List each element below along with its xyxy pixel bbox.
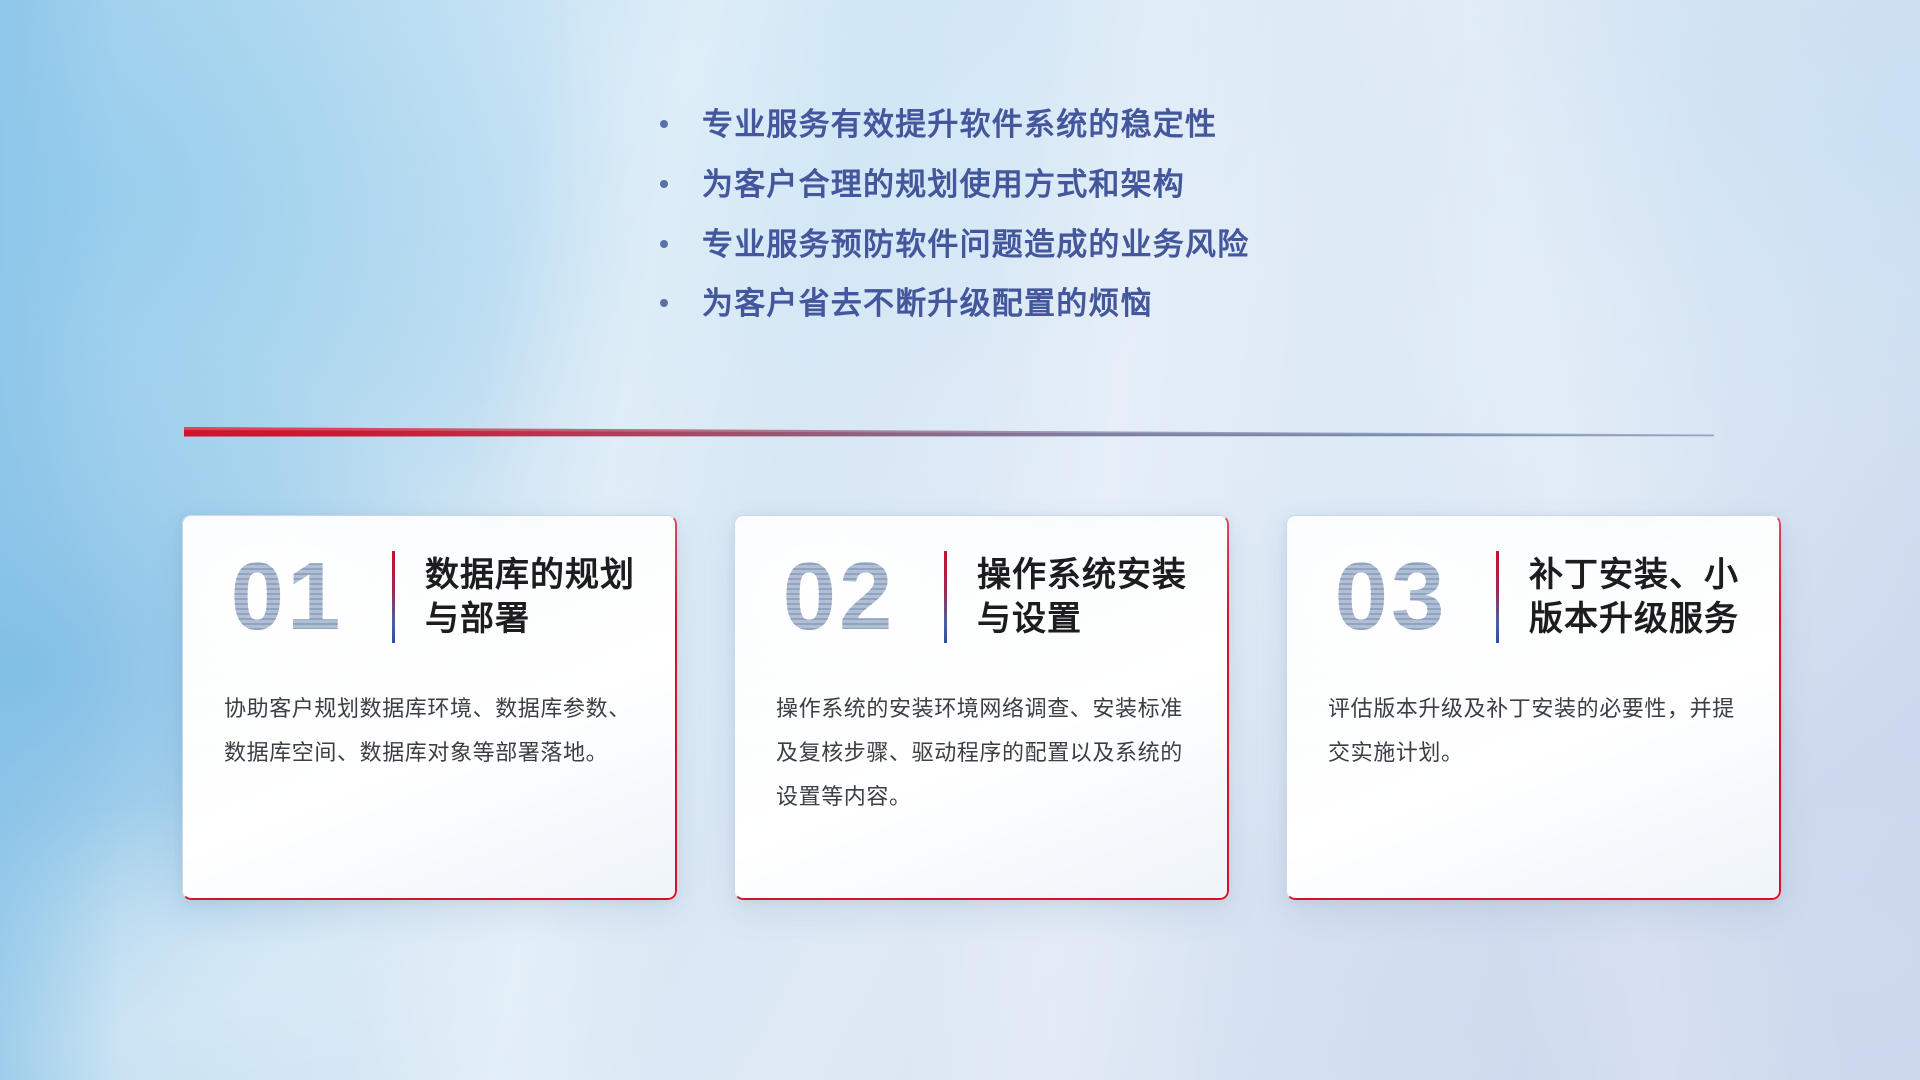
bullet-dot-icon bbox=[660, 180, 668, 188]
section-divider bbox=[184, 425, 1714, 441]
card-body-text: 评估版本升级及补丁安装的必要性，并提交实施计划。 bbox=[1328, 687, 1747, 775]
card-body-text: 协助客户规划数据库环境、数据库参数、数据库空间、数据库对象等部署落地。 bbox=[224, 687, 643, 775]
card-title-line-2: 与部署 bbox=[425, 597, 663, 641]
bullet-item-label: 专业服务有效提升软件系统的稳定性 bbox=[702, 106, 1217, 145]
card-divider-rule bbox=[1496, 551, 1499, 643]
card-number-watermark: 01 bbox=[182, 549, 392, 645]
bullet-item-label: 为客户省去不断升级配置的烦恼 bbox=[702, 285, 1153, 324]
card-title-line-2: 与设置 bbox=[977, 597, 1215, 641]
card-title: 数据库的规划 与部署 bbox=[425, 553, 677, 641]
card-title: 补丁安装、小 版本升级服务 bbox=[1529, 553, 1781, 641]
background-left-vignette bbox=[0, 0, 120, 1080]
bullet-list: 专业服务有效提升软件系统的稳定性 为客户合理的规划使用方式和架构 专业服务预防软… bbox=[660, 106, 1420, 345]
service-card[interactable]: 03 补丁安装、小 版本升级服务 评估版本升级及补丁安装的必要性，并提交实施计划… bbox=[1286, 515, 1781, 900]
card-header: 01 数据库的规划 与部署 bbox=[182, 531, 677, 663]
slide-canvas: 专业服务有效提升软件系统的稳定性 为客户合理的规划使用方式和架构 专业服务预防软… bbox=[0, 0, 1920, 1080]
card-header: 02 操作系统安装 与设置 bbox=[734, 531, 1229, 663]
service-card[interactable]: 02 操作系统安装 与设置 操作系统的安装环境网络调查、安装标准及复核步骤、驱动… bbox=[734, 515, 1229, 900]
bullet-dot-icon bbox=[660, 240, 668, 248]
card-divider-rule bbox=[392, 551, 395, 643]
bullet-item-label: 专业服务预防软件问题造成的业务风险 bbox=[702, 226, 1249, 265]
list-item: 为客户合理的规划使用方式和架构 bbox=[660, 166, 1420, 205]
service-card[interactable]: 01 数据库的规划 与部署 协助客户规划数据库环境、数据库参数、数据库空间、数据… bbox=[182, 515, 677, 900]
list-item: 专业服务有效提升软件系统的稳定性 bbox=[660, 106, 1420, 145]
card-title-line-2: 版本升级服务 bbox=[1529, 597, 1767, 641]
card-title-line-1: 操作系统安装 bbox=[977, 553, 1215, 597]
card-title-line-1: 补丁安装、小 bbox=[1529, 553, 1767, 597]
card-row: 01 数据库的规划 与部署 协助客户规划数据库环境、数据库参数、数据库空间、数据… bbox=[182, 515, 1782, 900]
card-title-line-1: 数据库的规划 bbox=[425, 553, 663, 597]
card-number-watermark: 03 bbox=[1286, 549, 1496, 645]
bullet-dot-icon bbox=[660, 120, 668, 128]
bullet-dot-icon bbox=[660, 299, 668, 307]
bullet-item-label: 为客户合理的规划使用方式和架构 bbox=[702, 166, 1185, 205]
divider-wedge-icon bbox=[184, 425, 1714, 441]
list-item: 专业服务预防软件问题造成的业务风险 bbox=[660, 226, 1420, 265]
list-item: 为客户省去不断升级配置的烦恼 bbox=[660, 285, 1420, 324]
card-body-text: 操作系统的安装环境网络调查、安装标准及复核步骤、驱动程序的配置以及系统的设置等内… bbox=[776, 687, 1195, 819]
card-title: 操作系统安装 与设置 bbox=[977, 553, 1229, 641]
card-divider-rule bbox=[944, 551, 947, 643]
card-header: 03 补丁安装、小 版本升级服务 bbox=[1286, 531, 1781, 663]
card-number-watermark: 02 bbox=[734, 549, 944, 645]
